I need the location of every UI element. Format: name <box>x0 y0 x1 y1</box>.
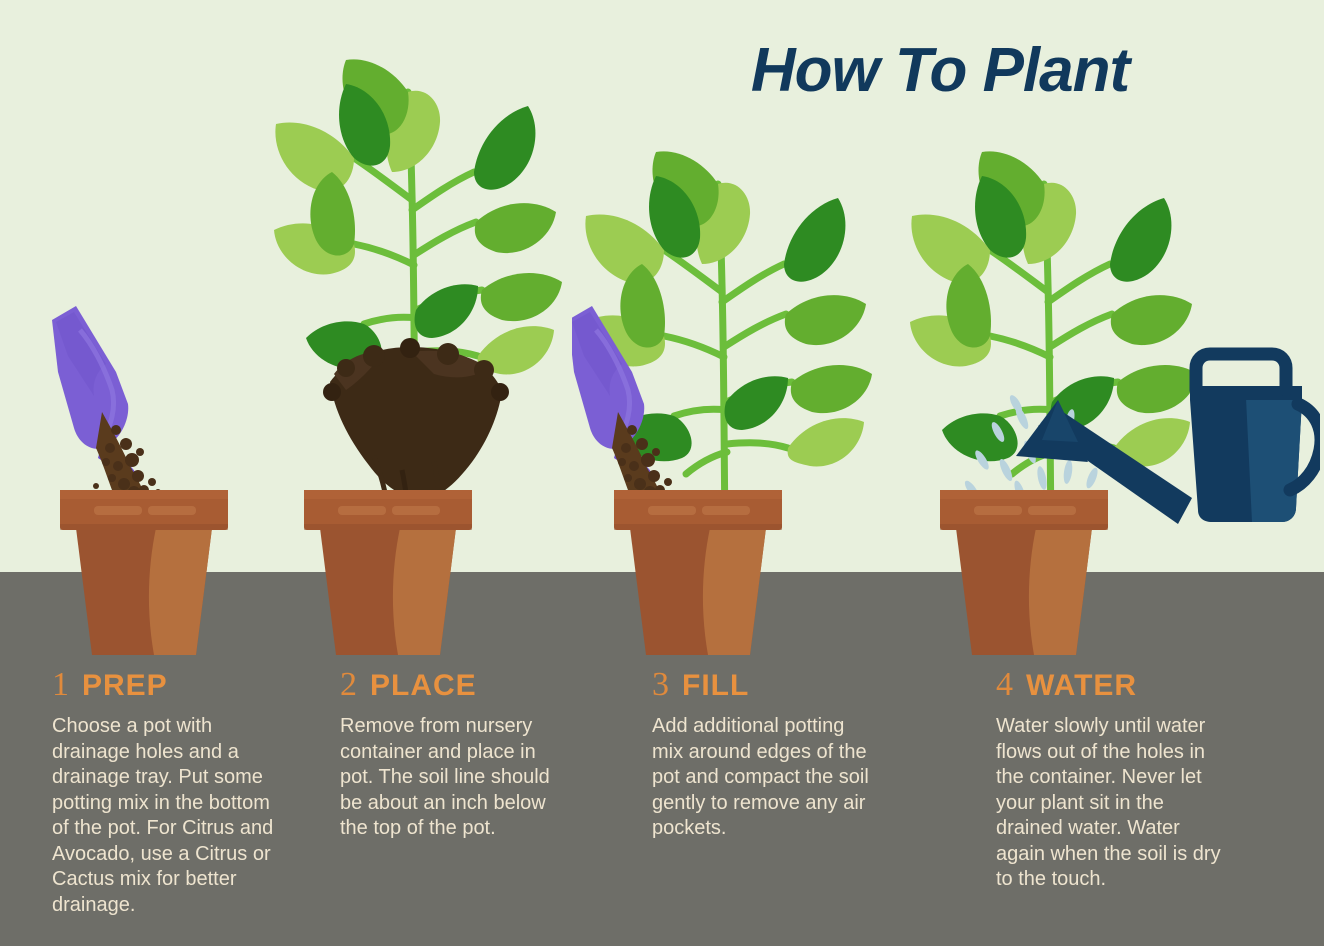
step-4-label: WATER <box>1026 671 1137 701</box>
infographic-canvas: How To Plant <box>0 0 1324 946</box>
step-4-body-line: Water slowly until water <box>996 714 1246 740</box>
step-2-body-line: pot. The soil line should <box>340 765 600 791</box>
step-4-body-line: your plant sit in the <box>996 791 1246 817</box>
flower-pot-icon <box>614 490 782 655</box>
flower-pot-icon <box>304 490 472 655</box>
flower-pot-icon <box>940 490 1108 655</box>
scene-step-3 <box>572 0 912 670</box>
step-1-body-line: of the pot. For Citrus and <box>52 816 302 842</box>
step-4-body-line: to the touch. <box>996 867 1246 893</box>
step-1-body-line: drainage. <box>52 893 302 919</box>
step-1-text: 1 PREP Choose a pot with drainage holes … <box>52 668 302 918</box>
step-2-label: PLACE <box>370 671 477 701</box>
step-2-body-line: container and place in <box>340 740 600 766</box>
step-1-body-line: Avocado, use a Citrus or <box>52 842 302 868</box>
step-1-body: Choose a pot with drainage holes and a d… <box>52 714 302 918</box>
step-1-body-line: Choose a pot with <box>52 714 302 740</box>
step-2-body-line: Remove from nursery <box>340 714 600 740</box>
step-1-label: PREP <box>82 671 168 701</box>
step-2-body-line: be about an inch below <box>340 791 600 817</box>
scene-step-2 <box>262 0 602 670</box>
step-1-body-line: Cactus mix for better <box>52 867 302 893</box>
step-4-body-line: the container. Never let <box>996 765 1246 791</box>
step-2-body: Remove from nursery container and place … <box>340 714 600 842</box>
step-3-body-line: pockets. <box>652 816 907 842</box>
step-3-text: 3 FILL Add additional potting mix around… <box>652 668 907 842</box>
step-2-body-line: the top of the pot. <box>340 816 600 842</box>
step-4-body-line: flows out of the holes in <box>996 740 1246 766</box>
step-4-heading: 4 WATER <box>996 668 1246 702</box>
step-3-body: Add additional potting mix around edges … <box>652 714 907 842</box>
step-4-body-line: again when the soil is dry <box>996 842 1246 868</box>
step-3-body-line: gently to remove any air <box>652 791 907 817</box>
step-4-text: 4 WATER Water slowly until water flows o… <box>996 668 1246 893</box>
step-3-heading: 3 FILL <box>652 668 907 702</box>
step-4-body-line: drained water. Water <box>996 816 1246 842</box>
step-2-heading: 2 PLACE <box>340 668 600 702</box>
step-4-body: Water slowly until water flows out of th… <box>996 714 1246 893</box>
step-3-number: 3 <box>652 668 669 702</box>
step-2-text: 2 PLACE Remove from nursery container an… <box>340 668 600 842</box>
step-1-heading: 1 PREP <box>52 668 302 702</box>
step-3-body-line: mix around edges of the <box>652 740 907 766</box>
step-4-number: 4 <box>996 668 1013 702</box>
step-3-body-line: pot and compact the soil <box>652 765 907 791</box>
flower-pot-icon <box>60 490 228 655</box>
plant-icon <box>910 151 1198 530</box>
step-1-number: 1 <box>52 668 69 702</box>
scene-step-4 <box>910 0 1320 670</box>
step-3-label: FILL <box>682 671 749 701</box>
step-3-body-line: Add additional potting <box>652 714 907 740</box>
soil-pour-icon <box>93 412 161 503</box>
step-2-number: 2 <box>340 668 357 702</box>
step-1-body-line: drainage holes and a <box>52 740 302 766</box>
step-1-body-line: drainage tray. Put some <box>52 765 302 791</box>
step-1-body-line: potting mix in the bottom <box>52 791 302 817</box>
